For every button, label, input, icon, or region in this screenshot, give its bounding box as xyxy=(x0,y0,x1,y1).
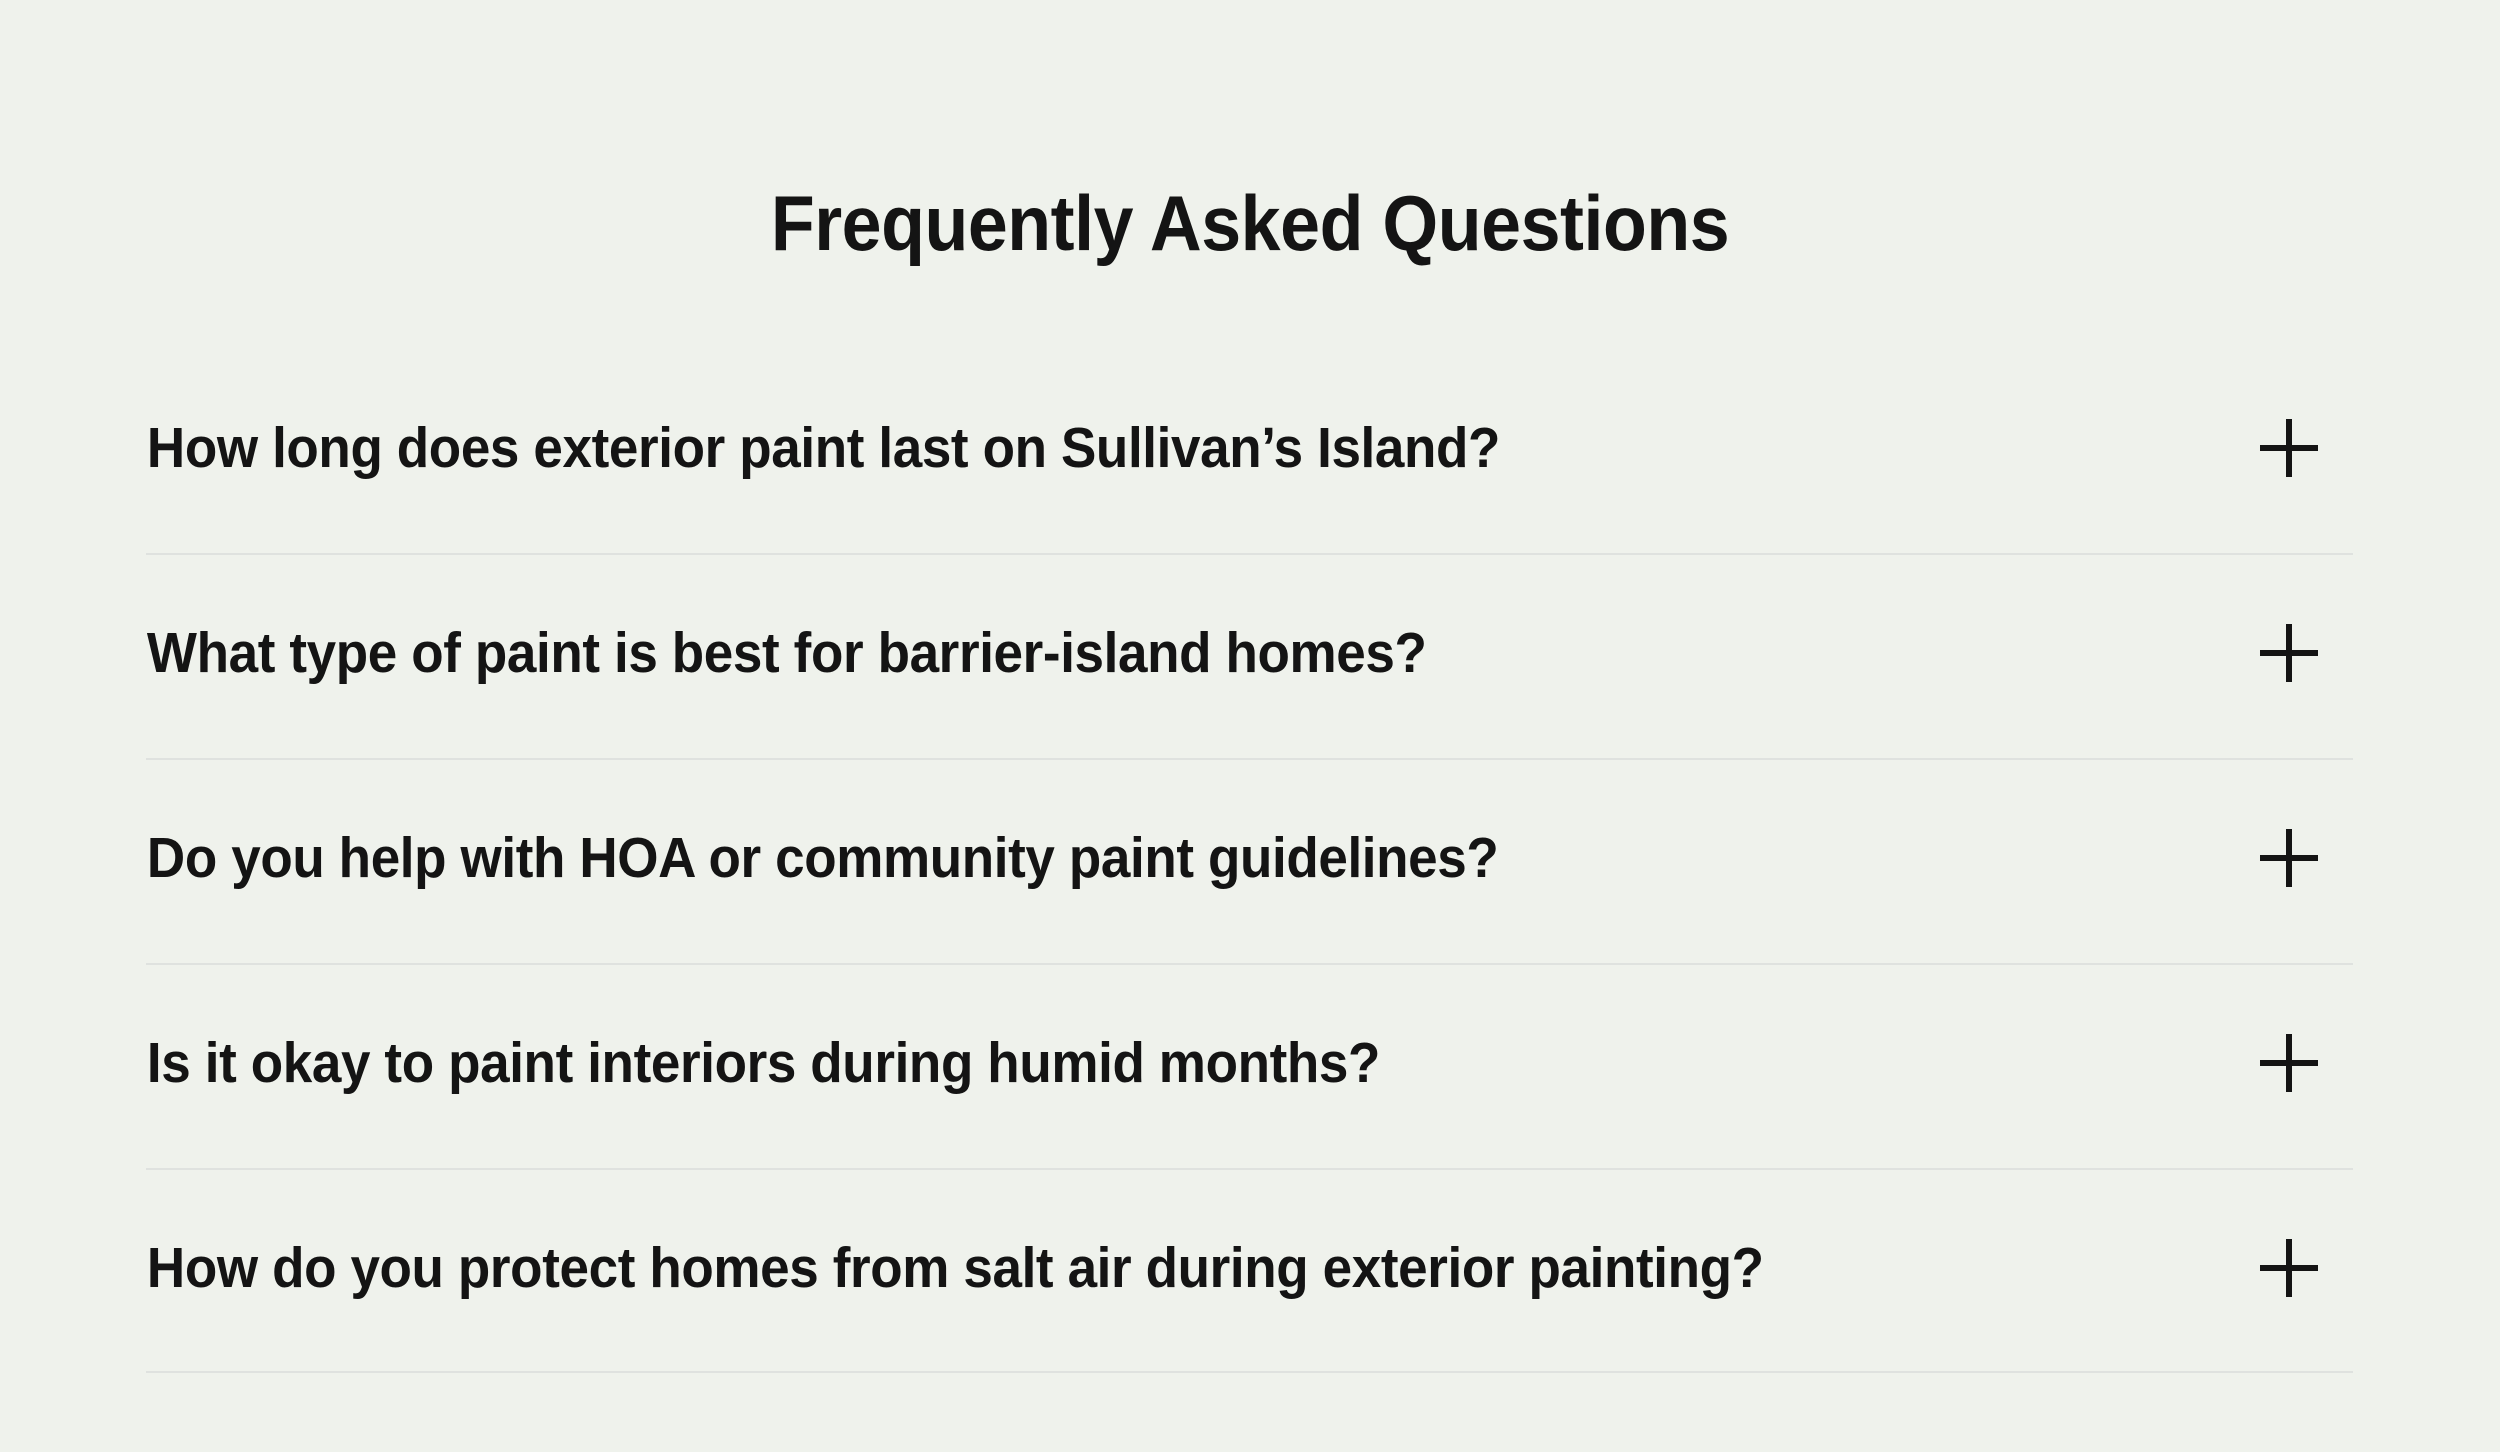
plus-icon-vertical xyxy=(2286,829,2292,887)
plus-icon-vertical xyxy=(2286,1034,2292,1092)
faq-question-label: Is it okay to paint interiors during hum… xyxy=(146,1030,2104,1096)
faq-item-header[interactable]: Do you help with HOA or community paint … xyxy=(146,760,2353,955)
plus-icon-vertical xyxy=(2286,419,2292,477)
faq-item-header[interactable]: Is it okay to paint interiors during hum… xyxy=(146,965,2353,1160)
plus-icon-vertical xyxy=(2286,624,2292,682)
faq-item[interactable]: How long does exterior paint last on Sul… xyxy=(146,350,2353,555)
faq-toggle-button[interactable] xyxy=(2251,1025,2327,1101)
faq-item[interactable]: How do you protect homes from salt air d… xyxy=(146,1170,2353,1373)
faq-item[interactable]: Do you help with HOA or community paint … xyxy=(146,760,2353,965)
faq-toggle-button[interactable] xyxy=(2251,1230,2327,1306)
faq-item-header[interactable]: How long does exterior paint last on Sul… xyxy=(146,350,2353,545)
faq-toggle-button[interactable] xyxy=(2251,615,2327,691)
faq-toggle-button[interactable] xyxy=(2251,820,2327,896)
faq-toggle-button[interactable] xyxy=(2251,410,2327,486)
page-title: Frequently Asked Questions xyxy=(100,180,2400,266)
faq-item-header[interactable]: How do you protect homes from salt air d… xyxy=(146,1170,2353,1365)
faq-item-header[interactable]: What type of paint is best for barrier-i… xyxy=(146,555,2353,750)
faq-question-label: What type of paint is best for barrier-i… xyxy=(146,620,2104,686)
faq-item[interactable]: Is it okay to paint interiors during hum… xyxy=(146,965,2353,1170)
faq-question-label: How long does exterior paint last on Sul… xyxy=(146,415,2104,481)
faq-question-label: Do you help with HOA or community paint … xyxy=(146,825,2104,891)
faq-accordion: How long does exterior paint last on Sul… xyxy=(146,350,2353,1373)
faq-page: Frequently Asked Questions How long does… xyxy=(0,0,2500,1452)
faq-question-label: How do you protect homes from salt air d… xyxy=(146,1235,2104,1301)
plus-icon-vertical xyxy=(2286,1239,2292,1297)
faq-item[interactable]: What type of paint is best for barrier-i… xyxy=(146,555,2353,760)
